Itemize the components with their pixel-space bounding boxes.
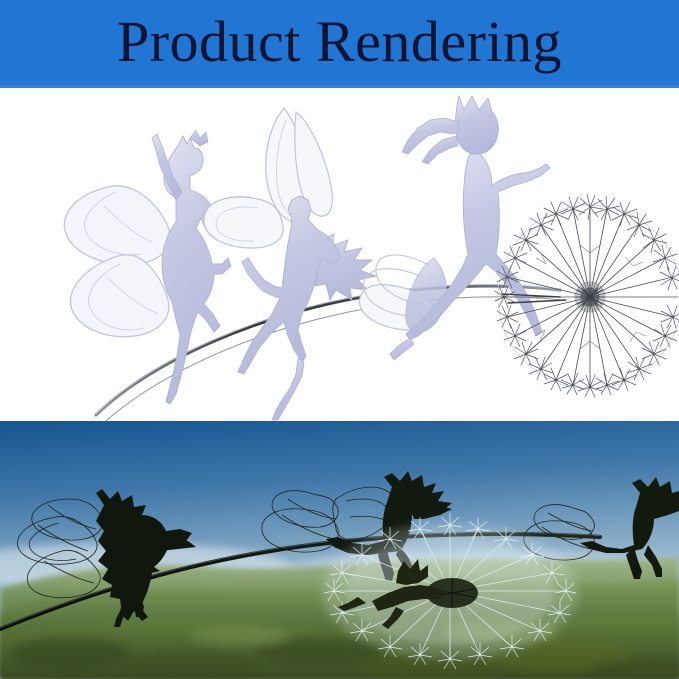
product-photo (0, 421, 679, 679)
dandelion-seedhead-linework (495, 194, 679, 397)
rendering-artwork (0, 88, 679, 421)
fairy-right (360, 96, 550, 360)
product-photo-artwork (0, 421, 679, 679)
title-banner: Product Rendering (0, 0, 679, 88)
fairy-left (64, 130, 231, 404)
product-rendering-page: Product Rendering (0, 0, 679, 679)
page-title: Product Rendering (0, 0, 679, 88)
product-rendering-illustration (0, 88, 679, 421)
